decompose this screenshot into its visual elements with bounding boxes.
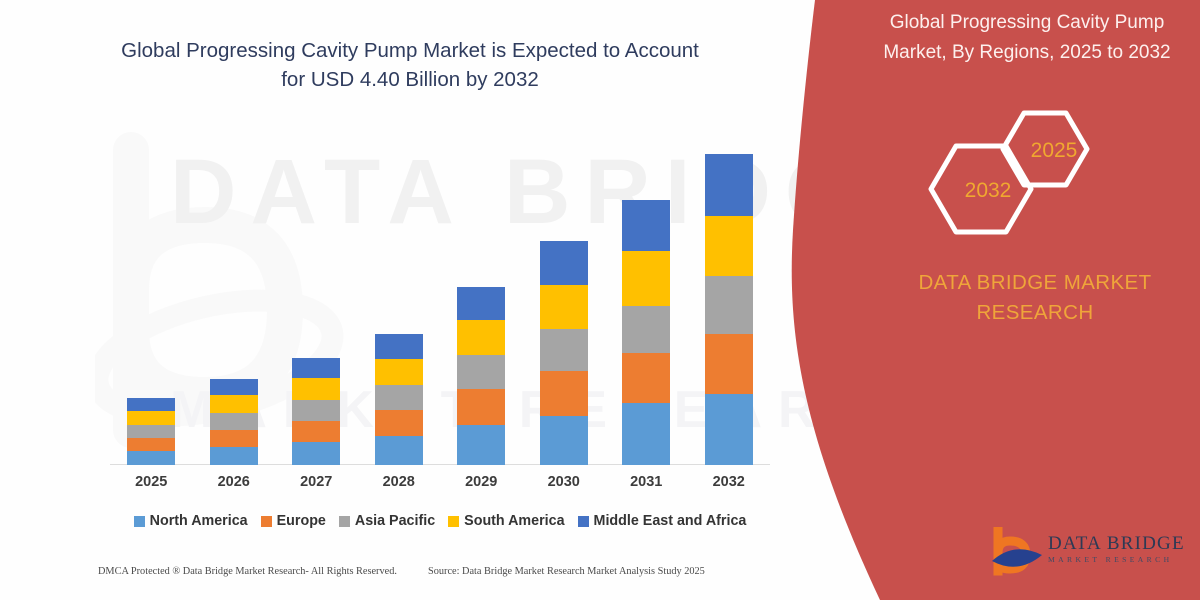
bar-segment-2029-north-america[interactable] [457, 425, 505, 465]
chart-title-line-2: for USD 4.40 Billion by 2032 [60, 65, 760, 94]
bar-segment-2032-south-america[interactable] [705, 216, 753, 276]
bar-segment-2025-europe[interactable] [127, 438, 175, 451]
legend-item-middle-east-and-africa[interactable]: Middle East and Africa [578, 513, 747, 529]
panel-title: Global Progressing Cavity Pump Market, B… [862, 8, 1192, 68]
bar-segment-2031-north-america[interactable] [622, 403, 670, 465]
brand-name: DATA BRIDGE MARKET RESEARCH [905, 268, 1165, 328]
brand-line-1: DATA BRIDGE MARKET [905, 268, 1165, 298]
bar-segment-2027-middle-east-and-africa[interactable] [292, 358, 340, 378]
bar-segment-2032-europe[interactable] [705, 334, 753, 394]
legend-item-europe[interactable]: Europe [261, 513, 326, 529]
x-tick-2027: 2027 [276, 474, 356, 490]
panel-title-line-2: Market, By Regions, 2025 to 2032 [862, 38, 1192, 68]
bar-segment-2030-middle-east-and-africa[interactable] [540, 241, 588, 285]
bar-2029[interactable] [457, 287, 505, 465]
infographic-canvas: DATA BRIDGE MARKET RESEARCH Global Progr… [0, 0, 1200, 600]
bar-segment-2027-europe[interactable] [292, 421, 340, 442]
x-tick-2025: 2025 [111, 474, 191, 490]
bar-2026[interactable] [210, 379, 258, 465]
legend-swatch-icon [448, 516, 459, 527]
panel-title-line-1: Global Progressing Cavity Pump [862, 8, 1192, 38]
legend-swatch-icon [261, 516, 272, 527]
bar-segment-2025-north-america[interactable] [127, 451, 175, 465]
bar-2031[interactable] [622, 200, 670, 465]
bar-chart-plot-area [110, 120, 770, 465]
bar-segment-2027-asia-pacific[interactable] [292, 400, 340, 421]
bar-2025[interactable] [127, 398, 175, 465]
bar-2032[interactable] [705, 154, 753, 465]
bar-segment-2030-europe[interactable] [540, 371, 588, 416]
bar-segment-2031-europe[interactable] [622, 353, 670, 403]
bar-segment-2028-north-america[interactable] [375, 436, 423, 465]
bar-segment-2032-middle-east-and-africa[interactable] [705, 154, 753, 216]
x-tick-2031: 2031 [606, 474, 686, 490]
legend-item-north-america[interactable]: North America [134, 513, 248, 529]
brand-line-2: RESEARCH [905, 298, 1165, 328]
legend-item-south-america[interactable]: South America [448, 513, 564, 529]
logo-tagline: MARKET RESEARCH [1048, 554, 1198, 566]
hexagon-label-2025: 2025 [1019, 139, 1089, 163]
bar-segment-2026-europe[interactable] [210, 430, 258, 447]
bar-segment-2028-middle-east-and-africa[interactable] [375, 334, 423, 359]
bar-segment-2027-south-america[interactable] [292, 378, 340, 400]
bar-2030[interactable] [540, 241, 588, 465]
legend-swatch-icon [578, 516, 589, 527]
legend-swatch-icon [339, 516, 350, 527]
bar-segment-2026-asia-pacific[interactable] [210, 413, 258, 430]
bar-segment-2031-asia-pacific[interactable] [622, 306, 670, 353]
legend-label: North America [150, 513, 248, 529]
bar-segment-2032-north-america[interactable] [705, 394, 753, 465]
x-tick-2028: 2028 [359, 474, 439, 490]
bar-segment-2029-asia-pacific[interactable] [457, 355, 505, 389]
bar-segment-2031-south-america[interactable] [622, 251, 670, 306]
bar-segment-2026-middle-east-and-africa[interactable] [210, 379, 258, 395]
bar-segment-2027-north-america[interactable] [292, 442, 340, 465]
bar-segment-2025-asia-pacific[interactable] [127, 425, 175, 438]
bar-segment-2032-asia-pacific[interactable] [705, 276, 753, 334]
legend-label: Middle East and Africa [594, 513, 747, 529]
bar-2028[interactable] [375, 334, 423, 465]
bar-segment-2029-middle-east-and-africa[interactable] [457, 287, 505, 320]
chart-title: Global Progressing Cavity Pump Market is… [60, 36, 760, 94]
legend-item-asia-pacific[interactable]: Asia Pacific [339, 513, 435, 529]
bar-segment-2030-north-america[interactable] [540, 416, 588, 465]
bar-segment-2028-south-america[interactable] [375, 359, 423, 385]
bar-segment-2026-south-america[interactable] [210, 395, 258, 413]
chart-title-line-1: Global Progressing Cavity Pump Market is… [60, 36, 760, 65]
logo-name: DATA BRIDGE [1048, 533, 1198, 554]
bar-segment-2030-asia-pacific[interactable] [540, 329, 588, 371]
bar-segment-2029-south-america[interactable] [457, 320, 505, 355]
footer-copyright: DMCA Protected ® Data Bridge Market Rese… [98, 566, 397, 577]
bar-segment-2025-middle-east-and-africa[interactable] [127, 398, 175, 411]
x-tick-2030: 2030 [524, 474, 604, 490]
bar-2027[interactable] [292, 358, 340, 465]
legend-label: Asia Pacific [355, 513, 435, 529]
logo-wordmark: DATA BRIDGE MARKET RESEARCH [1048, 533, 1198, 566]
legend-label: South America [464, 513, 564, 529]
x-tick-2032: 2032 [689, 474, 769, 490]
hexagon-label-2032: 2032 [953, 179, 1023, 203]
bar-segment-2025-south-america[interactable] [127, 411, 175, 425]
x-tick-2029: 2029 [441, 474, 521, 490]
footer-source: Source: Data Bridge Market Research Mark… [428, 566, 705, 577]
x-axis-tick-labels: 20252026202720282029203020312032 [110, 474, 770, 496]
bar-segment-2030-south-america[interactable] [540, 285, 588, 329]
legend-swatch-icon [134, 516, 145, 527]
bar-segment-2026-north-america[interactable] [210, 447, 258, 465]
hexagon-pair [920, 108, 1120, 238]
bar-segment-2028-europe[interactable] [375, 410, 423, 436]
bar-segment-2029-europe[interactable] [457, 389, 505, 425]
bar-segment-2031-middle-east-and-africa[interactable] [622, 200, 670, 251]
legend-label: Europe [277, 513, 326, 529]
bar-segment-2028-asia-pacific[interactable] [375, 385, 423, 410]
x-tick-2026: 2026 [194, 474, 274, 490]
chart-legend: North AmericaEuropeAsia PacificSouth Ame… [110, 513, 770, 529]
